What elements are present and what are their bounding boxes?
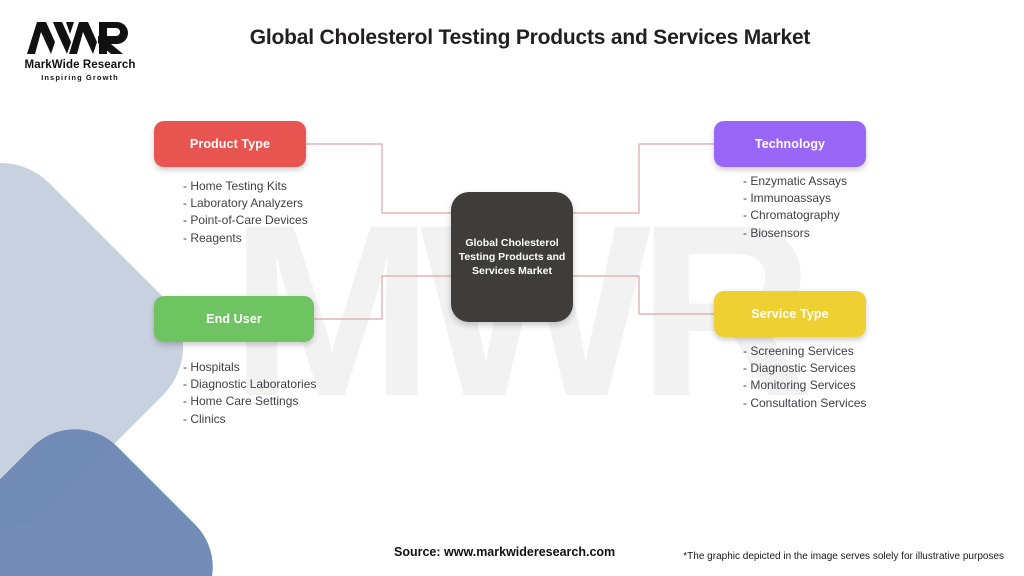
list-item: - Screening Services	[743, 343, 866, 360]
branch-pill-end-user[interactable]: End User	[154, 296, 314, 342]
branch-list-product-type: - Home Testing Kits - Laboratory Analyze…	[183, 178, 308, 247]
connector-technology	[572, 144, 714, 213]
branch-label-end-user: End User	[206, 312, 262, 326]
list-item: - Chromatography	[743, 207, 847, 224]
branch-pill-service-type[interactable]: Service Type	[714, 291, 866, 337]
central-hub-label: Global Cholesterol Testing Products and …	[452, 236, 573, 278]
list-item: - Clinics	[183, 411, 316, 428]
infographic-canvas: MWR MarkWide Research Inspiring Growth G…	[0, 0, 1024, 576]
branch-pill-product-type[interactable]: Product Type	[154, 121, 306, 167]
branch-list-service-type: - Screening Services - Diagnostic Servic…	[743, 343, 866, 412]
list-item: - Point-of-Care Devices	[183, 212, 308, 229]
connector-end-user	[314, 276, 452, 319]
branch-label-technology: Technology	[755, 137, 825, 151]
branch-label-service-type: Service Type	[751, 307, 828, 321]
branch-pill-technology[interactable]: Technology	[714, 121, 866, 167]
list-item: - Hospitals	[183, 359, 316, 376]
list-item: - Biosensors	[743, 225, 847, 242]
connector-service-type	[572, 276, 714, 314]
list-item: - Laboratory Analyzers	[183, 195, 308, 212]
list-item: - Immunoassays	[743, 190, 847, 207]
list-item: - Diagnostic Laboratories	[183, 376, 316, 393]
source-note: Source: www.markwideresearch.com	[394, 545, 615, 559]
list-item: - Consultation Services	[743, 395, 866, 412]
connector-product-type	[306, 144, 452, 213]
disclaimer-note: *The graphic depicted in the image serve…	[683, 551, 1004, 562]
list-item: - Monitoring Services	[743, 377, 866, 394]
list-item: - Home Testing Kits	[183, 178, 308, 195]
branch-list-end-user: - Hospitals - Diagnostic Laboratories - …	[183, 359, 316, 428]
list-item: - Reagents	[183, 230, 308, 247]
branch-label-product-type: Product Type	[190, 137, 270, 151]
list-item: - Home Care Settings	[183, 393, 316, 410]
central-hub-node[interactable]: Global Cholesterol Testing Products and …	[451, 192, 573, 322]
branch-list-technology: - Enzymatic Assays - Immunoassays - Chro…	[743, 173, 847, 242]
list-item: - Enzymatic Assays	[743, 173, 847, 190]
list-item: - Diagnostic Services	[743, 360, 866, 377]
